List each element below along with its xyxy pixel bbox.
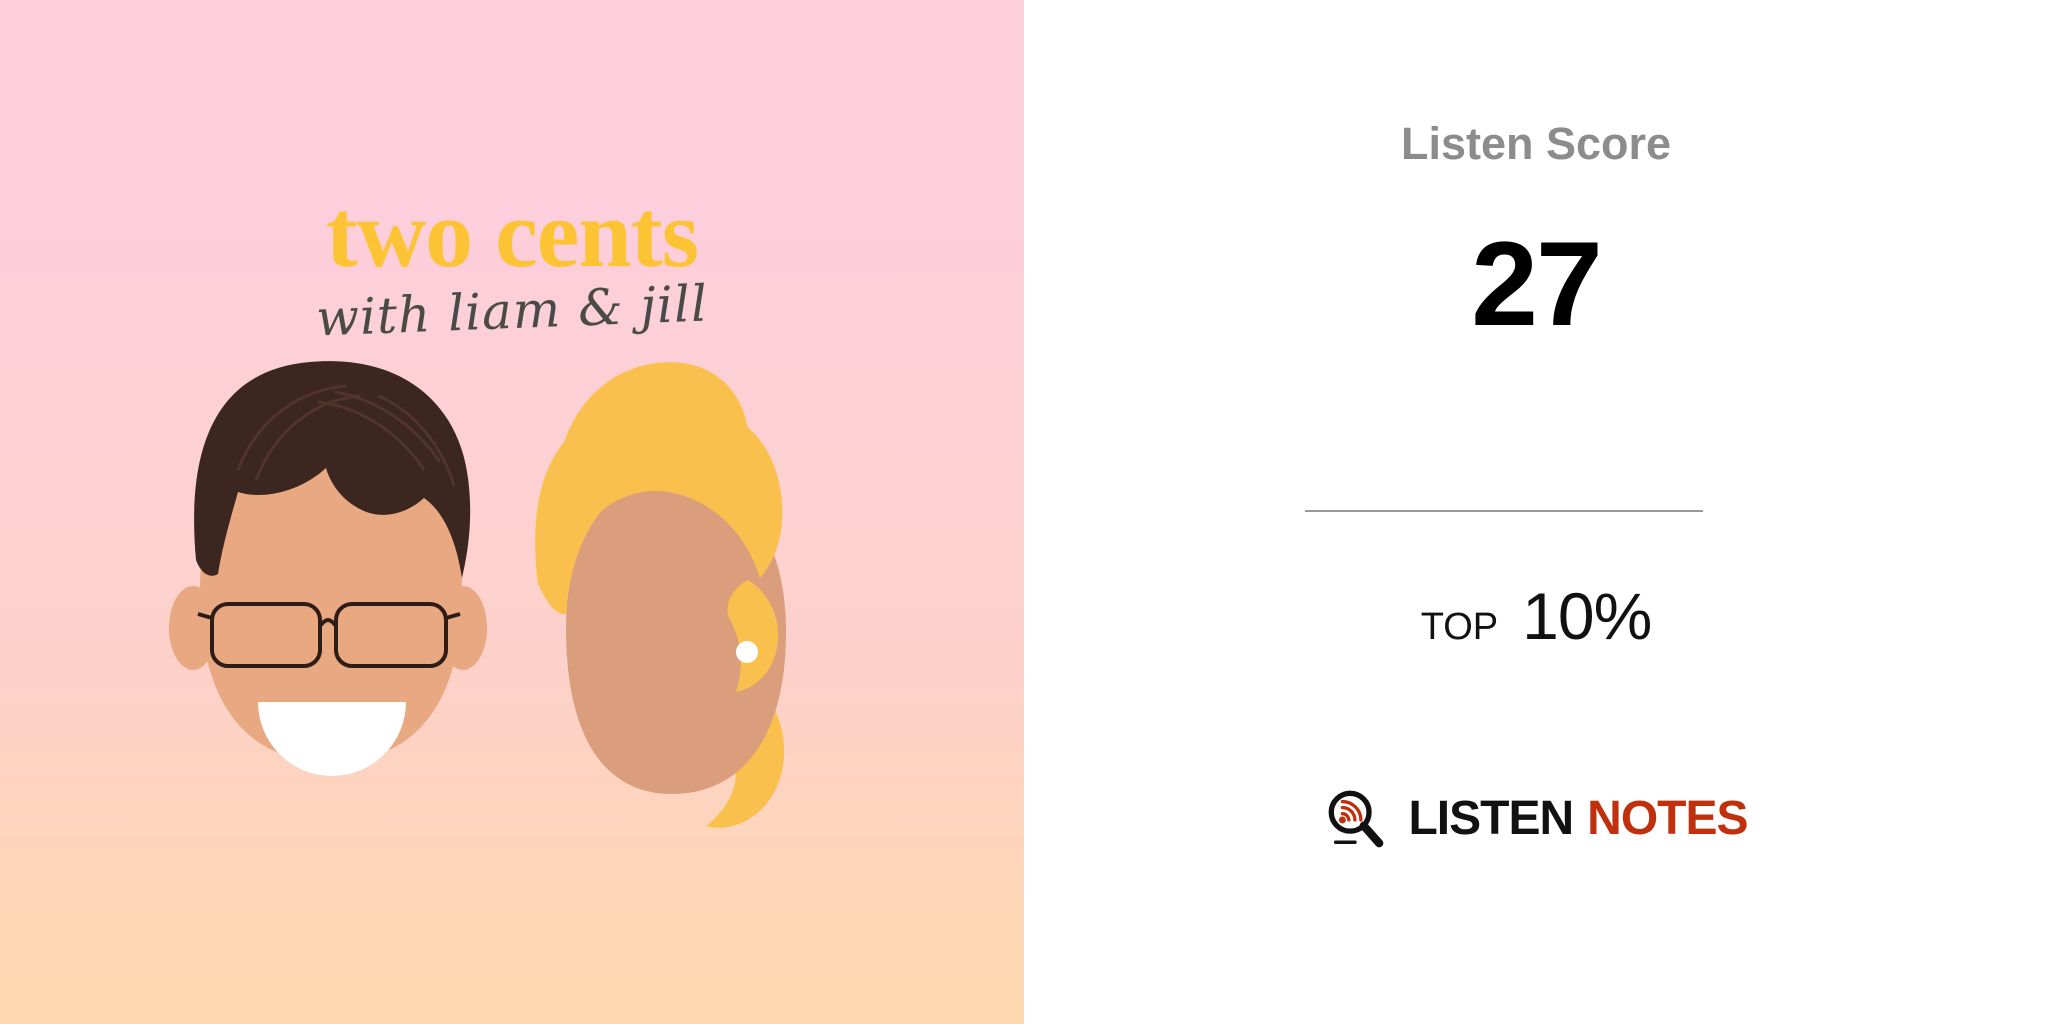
rank-row: TOP 10% <box>1024 578 2048 654</box>
listen-score-label: Listen Score <box>1024 118 2048 170</box>
score-divider <box>1305 510 1703 512</box>
magnifier-rss-icon <box>1324 788 1386 850</box>
brand-word-notes: NOTES <box>1587 792 1747 845</box>
male-mouth <box>258 702 406 776</box>
female-earring <box>736 641 758 663</box>
brand-wordmark: LISTENNOTES <box>1408 795 1747 843</box>
brand-word-listen: LISTEN <box>1408 792 1573 845</box>
listen-score-value: 27 <box>1024 224 2048 344</box>
hosts-illustration <box>0 0 1024 1024</box>
listen-notes-logo[interactable]: LISTENNOTES <box>1024 788 2048 850</box>
listen-score-panel: Listen Score 27 TOP 10% LISTENNO <box>1024 0 2048 1024</box>
cover-title: two cents <box>0 186 1024 282</box>
rank-percentile-value: 10% <box>1522 578 1651 654</box>
podcast-cover-art[interactable]: two cents with liam & jill <box>0 0 1024 1024</box>
listen-score-card: two cents with liam & jill Listen Score … <box>0 0 2048 1024</box>
rank-prefix-label: TOP <box>1421 606 1498 649</box>
